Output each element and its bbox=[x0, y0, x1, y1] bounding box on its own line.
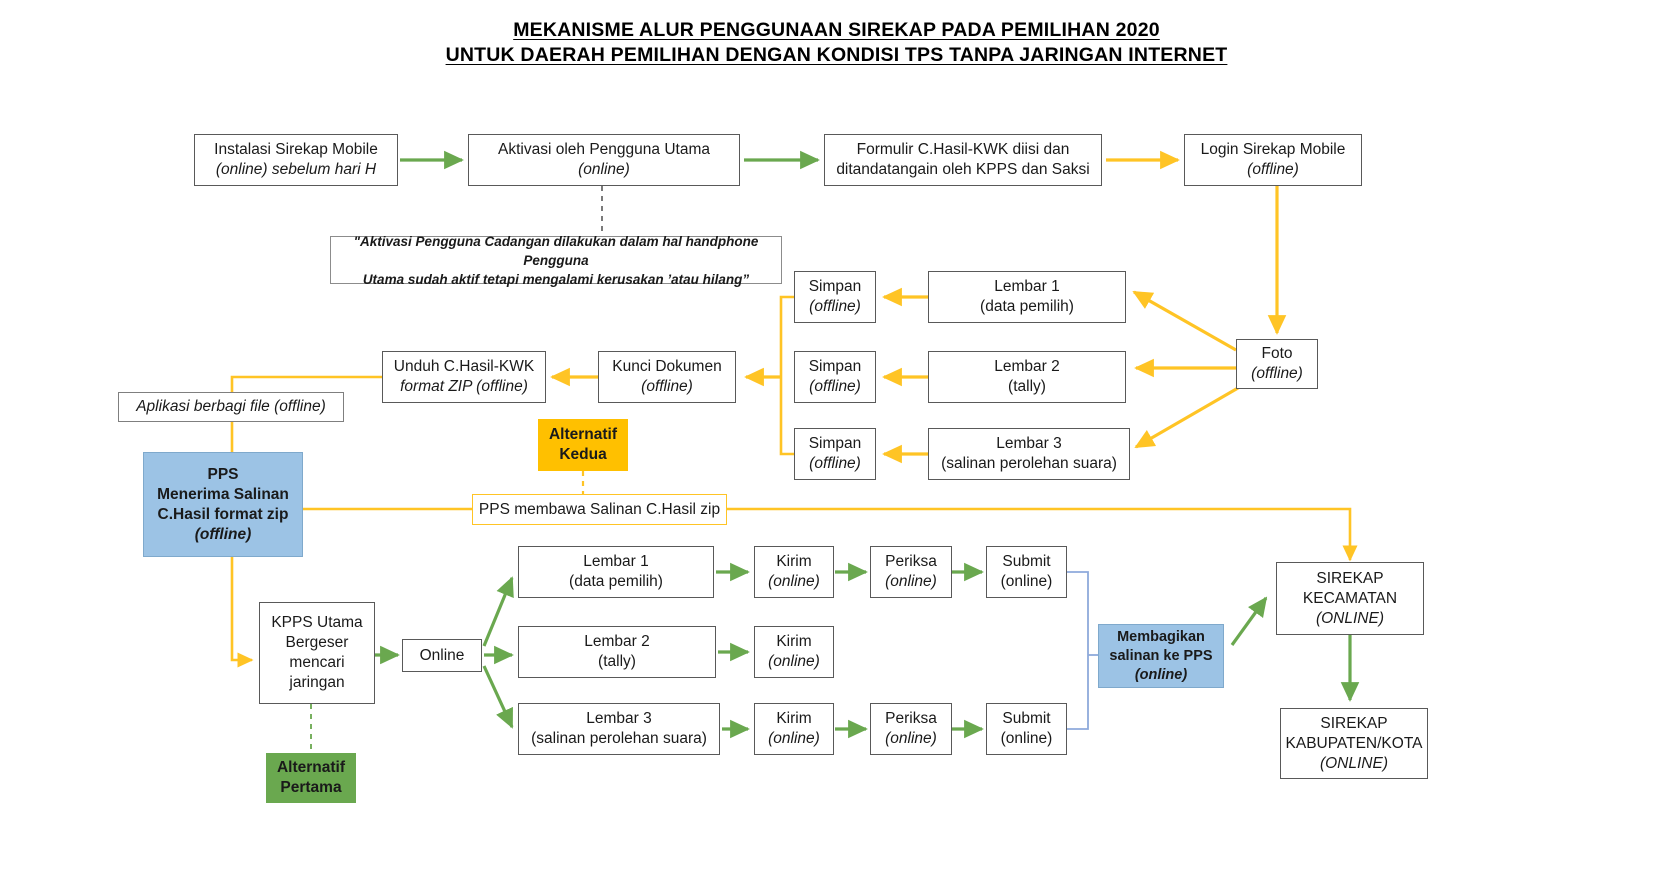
node-line: Kunci Dokumen bbox=[612, 357, 721, 377]
node-line: ditandatangain oleh KPPS dan Saksi bbox=[836, 160, 1089, 180]
node-line: Formulir C.Hasil-KWK diisi dan bbox=[857, 140, 1070, 160]
node-periksa-3[interactable]: Periksa (online) bbox=[870, 703, 952, 755]
node-online[interactable]: Online bbox=[402, 639, 482, 672]
flowchart-canvas: MEKANISME ALUR PENGGUNAAN SIREKAP PADA P… bbox=[0, 0, 1673, 887]
node-line: Pertama bbox=[280, 778, 341, 798]
note-line: Utama sudah aktif tetapi mengalami kerus… bbox=[363, 270, 749, 289]
node-line: (data pemilih) bbox=[569, 572, 663, 592]
node-line: (online) bbox=[768, 729, 820, 749]
node-formulir-chasil-kwk[interactable]: Formulir C.Hasil-KWK diisi dan ditandata… bbox=[824, 134, 1102, 186]
node-submit-3[interactable]: Submit (online) bbox=[986, 703, 1067, 755]
node-line: (online) bbox=[1001, 572, 1053, 592]
node-kirim-2[interactable]: Kirim (online) bbox=[754, 626, 834, 678]
node-line: (offline) bbox=[809, 454, 861, 474]
node-line: Bergeser bbox=[286, 633, 349, 653]
node-line: Lembar 2 bbox=[994, 357, 1059, 377]
node-kpps-utama-bergeser[interactable]: KPPS Utama Bergeser mencari jaringan bbox=[259, 602, 375, 704]
node-line: Unduh C.Hasil-KWK bbox=[394, 357, 534, 377]
node-line: Kirim bbox=[776, 709, 811, 729]
node-line: Periksa bbox=[885, 709, 937, 729]
node-line: Periksa bbox=[885, 552, 937, 572]
node-line: (ONLINE) bbox=[1316, 609, 1384, 629]
node-simpan-1[interactable]: Simpan (offline) bbox=[794, 271, 876, 323]
node-line: (salinan perolehan suara) bbox=[531, 729, 707, 749]
node-line: (online) bbox=[1135, 666, 1187, 685]
node-line: Kedua bbox=[559, 445, 606, 465]
node-kunci-dokumen[interactable]: Kunci Dokumen (offline) bbox=[598, 351, 736, 403]
node-line: KPPS Utama bbox=[271, 613, 362, 633]
node-login-sirekap-mobile[interactable]: Login Sirekap Mobile (offline) bbox=[1184, 134, 1362, 186]
node-kirim-1[interactable]: Kirim (online) bbox=[754, 546, 834, 598]
node-line: Menerima Salinan bbox=[157, 485, 289, 505]
node-line: (online) sebelum hari H bbox=[216, 160, 376, 180]
node-sirekap-kecamatan[interactable]: SIREKAP KECAMATAN (ONLINE) bbox=[1276, 562, 1424, 635]
node-line: Alternatif bbox=[277, 758, 345, 778]
node-line: Lembar 1 bbox=[583, 552, 648, 572]
node-line: (offline) bbox=[1247, 160, 1299, 180]
node-line: Simpan bbox=[809, 357, 862, 377]
node-line: KABUPATEN/KOTA bbox=[1286, 734, 1423, 754]
node-line: Submit bbox=[1002, 709, 1050, 729]
node-alternatif-kedua[interactable]: Alternatif Kedua bbox=[538, 419, 628, 471]
note-aktivasi-pengguna-cadangan: "Aktivasi Pengguna Cadangan dilakukan da… bbox=[330, 236, 782, 284]
node-sirekap-kabupaten-kota[interactable]: SIREKAP KABUPATEN/KOTA (ONLINE) bbox=[1280, 708, 1428, 779]
node-line: Alternatif bbox=[549, 425, 617, 445]
node-lembar-2-bawah[interactable]: Lembar 2 (tally) bbox=[518, 626, 716, 678]
node-line: PPS bbox=[207, 465, 238, 485]
node-line: Lembar 2 bbox=[584, 632, 649, 652]
node-line: (online) bbox=[768, 652, 820, 672]
node-line: Instalasi Sirekap Mobile bbox=[214, 140, 378, 160]
node-pps-membawa-salinan[interactable]: PPS membawa Salinan C.Hasil zip bbox=[472, 494, 727, 525]
note-line: "Aktivasi Pengguna Cadangan dilakukan da… bbox=[336, 232, 776, 270]
node-periksa-1[interactable]: Periksa (online) bbox=[870, 546, 952, 598]
node-lembar-3-atas[interactable]: Lembar 3 (salinan perolehan suara) bbox=[928, 428, 1130, 480]
node-line: Kirim bbox=[776, 552, 811, 572]
node-line: Lembar 3 bbox=[996, 434, 1061, 454]
node-line: Online bbox=[420, 646, 465, 666]
node-line: Aktivasi oleh Pengguna Utama bbox=[498, 140, 710, 160]
node-line: (offline) bbox=[1251, 364, 1303, 384]
node-line: (tally) bbox=[598, 652, 636, 672]
node-pps-menerima-salinan[interactable]: PPS Menerima Salinan C.Hasil format zip … bbox=[143, 452, 303, 557]
node-alternatif-pertama[interactable]: Alternatif Pertama bbox=[266, 753, 356, 803]
node-line: (ONLINE) bbox=[1320, 754, 1388, 774]
node-line: (offline) bbox=[641, 377, 693, 397]
node-instalasi-sirekap-mobile[interactable]: Instalasi Sirekap Mobile (online) sebelu… bbox=[194, 134, 398, 186]
node-line: SIREKAP bbox=[1320, 714, 1387, 734]
page-title: MEKANISME ALUR PENGGUNAAN SIREKAP PADA P… bbox=[0, 18, 1673, 68]
node-unduh-chasil-kwk-zip[interactable]: Unduh C.Hasil-KWK format ZIP (offline) bbox=[382, 351, 546, 403]
node-line: (online) bbox=[768, 572, 820, 592]
node-membagikan-salinan-ke-pps[interactable]: Membagikan salinan ke PPS (online) bbox=[1098, 624, 1224, 688]
node-lembar-3-bawah[interactable]: Lembar 3 (salinan perolehan suara) bbox=[518, 703, 720, 755]
node-line: Kirim bbox=[776, 632, 811, 652]
node-line: SIREKAP bbox=[1316, 569, 1383, 589]
node-line: (offline) bbox=[195, 525, 252, 545]
node-aplikasi-berbagi-file[interactable]: Aplikasi berbagi file (offline) bbox=[118, 392, 344, 422]
node-line: (offline) bbox=[809, 377, 861, 397]
node-line: format ZIP (offline) bbox=[400, 377, 528, 397]
node-foto[interactable]: Foto (offline) bbox=[1236, 339, 1318, 389]
node-lembar-2-atas[interactable]: Lembar 2 (tally) bbox=[928, 351, 1126, 403]
node-submit-1[interactable]: Submit (online) bbox=[986, 546, 1067, 598]
node-line: KECAMATAN bbox=[1303, 589, 1397, 609]
title-line-1: MEKANISME ALUR PENGGUNAAN SIREKAP PADA P… bbox=[0, 18, 1673, 43]
node-lembar-1-atas[interactable]: Lembar 1 (data pemilih) bbox=[928, 271, 1126, 323]
node-line: (online) bbox=[578, 160, 630, 180]
node-aktivasi-pengguna-utama[interactable]: Aktivasi oleh Pengguna Utama (online) bbox=[468, 134, 740, 186]
node-line: Submit bbox=[1002, 552, 1050, 572]
node-line: salinan ke PPS bbox=[1109, 647, 1212, 666]
node-line: Simpan bbox=[809, 277, 862, 297]
node-simpan-3[interactable]: Simpan (offline) bbox=[794, 428, 876, 480]
node-line: Lembar 3 bbox=[586, 709, 651, 729]
node-line: C.Hasil format zip bbox=[158, 505, 289, 525]
node-line: (salinan perolehan suara) bbox=[941, 454, 1117, 474]
node-simpan-2[interactable]: Simpan (offline) bbox=[794, 351, 876, 403]
node-line: Foto bbox=[1261, 344, 1292, 364]
node-line: (offline) bbox=[809, 297, 861, 317]
title-line-2: UNTUK DAERAH PEMILIHAN DENGAN KONDISI TP… bbox=[0, 43, 1673, 68]
node-line: (data pemilih) bbox=[980, 297, 1074, 317]
node-line: Aplikasi berbagi file (offline) bbox=[136, 397, 326, 417]
node-line: Lembar 1 bbox=[994, 277, 1059, 297]
node-line: PPS membawa Salinan C.Hasil zip bbox=[479, 500, 720, 520]
node-line: (tally) bbox=[1008, 377, 1046, 397]
node-lembar-1-bawah[interactable]: Lembar 1 (data pemilih) bbox=[518, 546, 714, 598]
node-kirim-3[interactable]: Kirim (online) bbox=[754, 703, 834, 755]
node-line: mencari bbox=[289, 653, 344, 673]
node-line: Membagikan bbox=[1117, 628, 1205, 647]
node-line: jaringan bbox=[289, 673, 344, 693]
node-line: Simpan bbox=[809, 434, 862, 454]
node-line: Login Sirekap Mobile bbox=[1201, 140, 1346, 160]
node-line: (online) bbox=[1001, 729, 1053, 749]
node-line: (online) bbox=[885, 729, 937, 749]
node-line: (online) bbox=[885, 572, 937, 592]
